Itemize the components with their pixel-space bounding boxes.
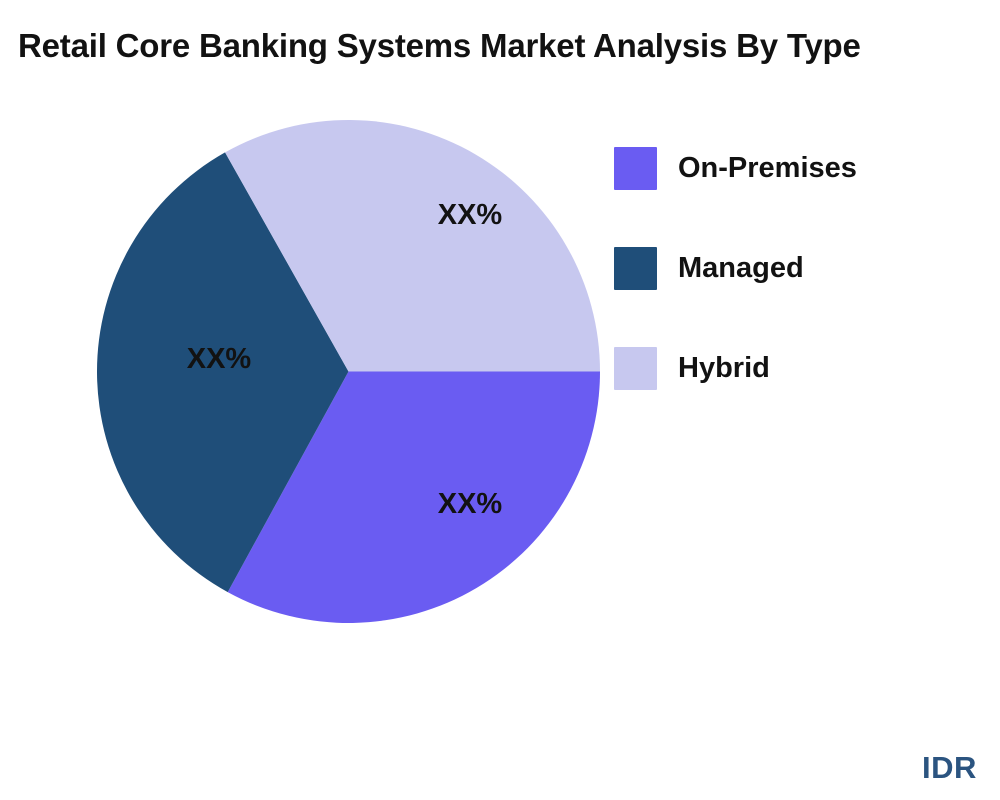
legend-item-managed[interactable]: Managed	[614, 218, 984, 318]
watermark-logo: IDR	[922, 750, 977, 786]
pie-slice-label-managed: XX%	[187, 343, 252, 375]
legend-swatch-managed	[614, 247, 657, 290]
page-title: Retail Core Banking Systems Market Analy…	[18, 24, 1000, 68]
legend-label-hybrid: Hybrid	[678, 354, 770, 383]
pie-slice-group	[97, 120, 600, 623]
legend-item-hybrid[interactable]: Hybrid	[614, 318, 984, 418]
legend-label-on-premises: On-Premises	[678, 154, 857, 183]
chart-page: Retail Core Banking Systems Market Analy…	[0, 0, 1000, 800]
pie-chart: XX%XX%XX%	[97, 120, 600, 623]
legend-swatch-on-premises	[614, 147, 657, 190]
legend-item-on-premises[interactable]: On-Premises	[614, 118, 984, 218]
pie-slice-label-on-premises: XX%	[438, 488, 503, 520]
pie-slice-label-hybrid: XX%	[438, 199, 503, 231]
legend-swatch-hybrid	[614, 347, 657, 390]
legend-label-managed: Managed	[678, 254, 804, 283]
chart-legend: On-Premises Managed Hybrid	[614, 118, 984, 418]
pie-chart-svg: XX%XX%XX%	[97, 120, 600, 623]
